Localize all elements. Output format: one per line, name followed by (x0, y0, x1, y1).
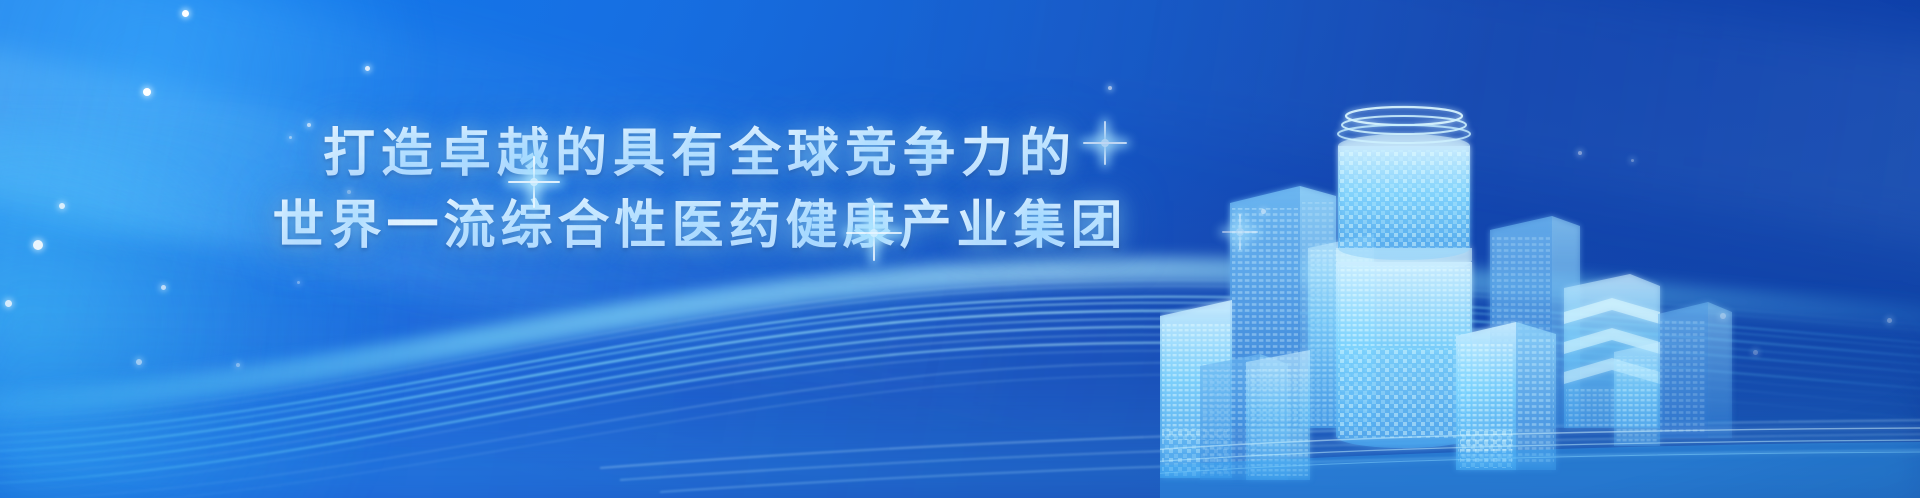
headline-line-1: 打造卓越的具有全球竞争力的 (0, 118, 1400, 190)
light-particle (236, 363, 240, 367)
light-particle (161, 285, 166, 290)
sparkle-icon (508, 156, 560, 208)
city-skyline-icon (1160, 98, 1920, 498)
light-particle (182, 10, 189, 17)
headline-block: 打造卓越的具有全球竞争力的 世界一流综合性医药健康产业集团 (0, 118, 1400, 262)
light-particle (289, 136, 292, 139)
light-band-1 (0, 0, 1082, 431)
light-particle (5, 300, 12, 307)
light-particle (136, 359, 142, 365)
light-particle (347, 190, 351, 194)
wave-sheet-glow (0, 288, 1920, 498)
light-band-5 (869, 0, 1920, 265)
light-particle (365, 66, 370, 71)
light-particle (307, 123, 311, 127)
light-particle (1887, 318, 1892, 323)
vignette-overlay (0, 0, 1920, 498)
light-particle (33, 240, 43, 250)
sparkle-icon (1222, 214, 1258, 250)
light-particle (1720, 313, 1726, 319)
light-particle (297, 281, 300, 284)
light-particle (336, 142, 339, 145)
hero-banner: 打造卓越的具有全球竞争力的 世界一流综合性医药健康产业集团 (0, 0, 1920, 498)
light-band-4 (0, 155, 933, 498)
top-left-glow (0, 0, 460, 240)
light-particle (1631, 159, 1634, 162)
light-particle (59, 203, 65, 209)
light-particle (1753, 350, 1758, 355)
sparkle-icon (846, 205, 902, 261)
sparkle-icon (1083, 121, 1127, 165)
light-particle (1261, 209, 1266, 214)
left-cyan-glow (0, 120, 500, 498)
light-particle (1108, 86, 1112, 90)
light-particle (143, 88, 151, 96)
light-band-2 (0, 0, 1194, 450)
headline-line-2: 世界一流综合性医药健康产业集团 (0, 190, 1400, 262)
light-band-3 (0, 60, 1042, 498)
flowing-light-waves (0, 168, 1920, 498)
light-particle (1578, 151, 1582, 155)
